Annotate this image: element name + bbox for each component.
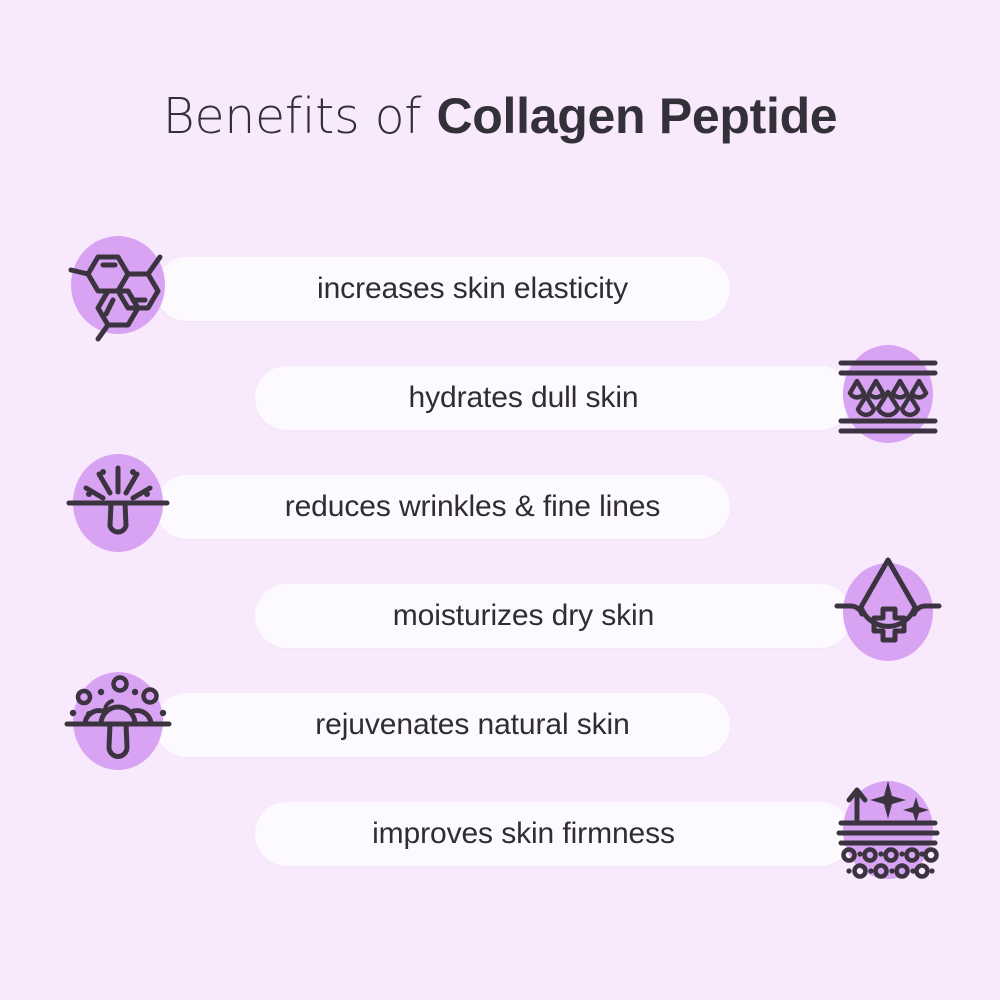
list-item: improves skin firmness: [0, 777, 1000, 886]
benefit-pill-1: increases skin elasticity: [155, 257, 730, 321]
skin-pore-follicle-icon: [68, 450, 168, 556]
benefit-label-3: reduces wrinkles & fine lines: [285, 490, 661, 524]
benefit-pill-2: hydrates dull skin: [255, 366, 852, 430]
benefit-pill-6: improves skin firmness: [255, 802, 852, 866]
page-title-light: Benefits of: [163, 88, 422, 145]
benefit-label-6: improves skin firmness: [372, 817, 675, 851]
list-item: moisturizes dry skin: [0, 559, 1000, 668]
collagen-molecule-icon: [68, 232, 168, 338]
list-item: hydrates dull skin: [0, 341, 1000, 450]
benefit-pill-5: rejuvenates natural skin: [155, 693, 730, 757]
benefit-pill-4: moisturizes dry skin: [255, 584, 852, 648]
benefit-label-4: moisturizes dry skin: [393, 599, 654, 633]
list-item: reduces wrinkles & fine lines: [0, 450, 1000, 559]
benefits-list: increases skin elasticity: [0, 232, 1000, 886]
infographic-poster: Benefits of Collagen Peptide increases s…: [0, 0, 1000, 1000]
page-title: Benefits of Collagen Peptide: [0, 88, 1000, 146]
benefit-label-5: rejuvenates natural skin: [315, 708, 629, 742]
skin-layers-sparkle-arrow-icon: [838, 777, 938, 883]
benefit-label-2: hydrates dull skin: [409, 381, 639, 415]
skin-cells-pore-icon: [68, 668, 168, 774]
benefit-label-1: increases skin elasticity: [317, 272, 628, 306]
benefit-pill-3: reduces wrinkles & fine lines: [155, 475, 730, 539]
page-title-bold: Collagen Peptide: [437, 88, 838, 144]
droplet-plus-icon: [838, 559, 938, 665]
list-item: increases skin elasticity: [0, 232, 1000, 341]
water-droplets-skin-layers-icon: [838, 341, 938, 447]
list-item: rejuvenates natural skin: [0, 668, 1000, 777]
